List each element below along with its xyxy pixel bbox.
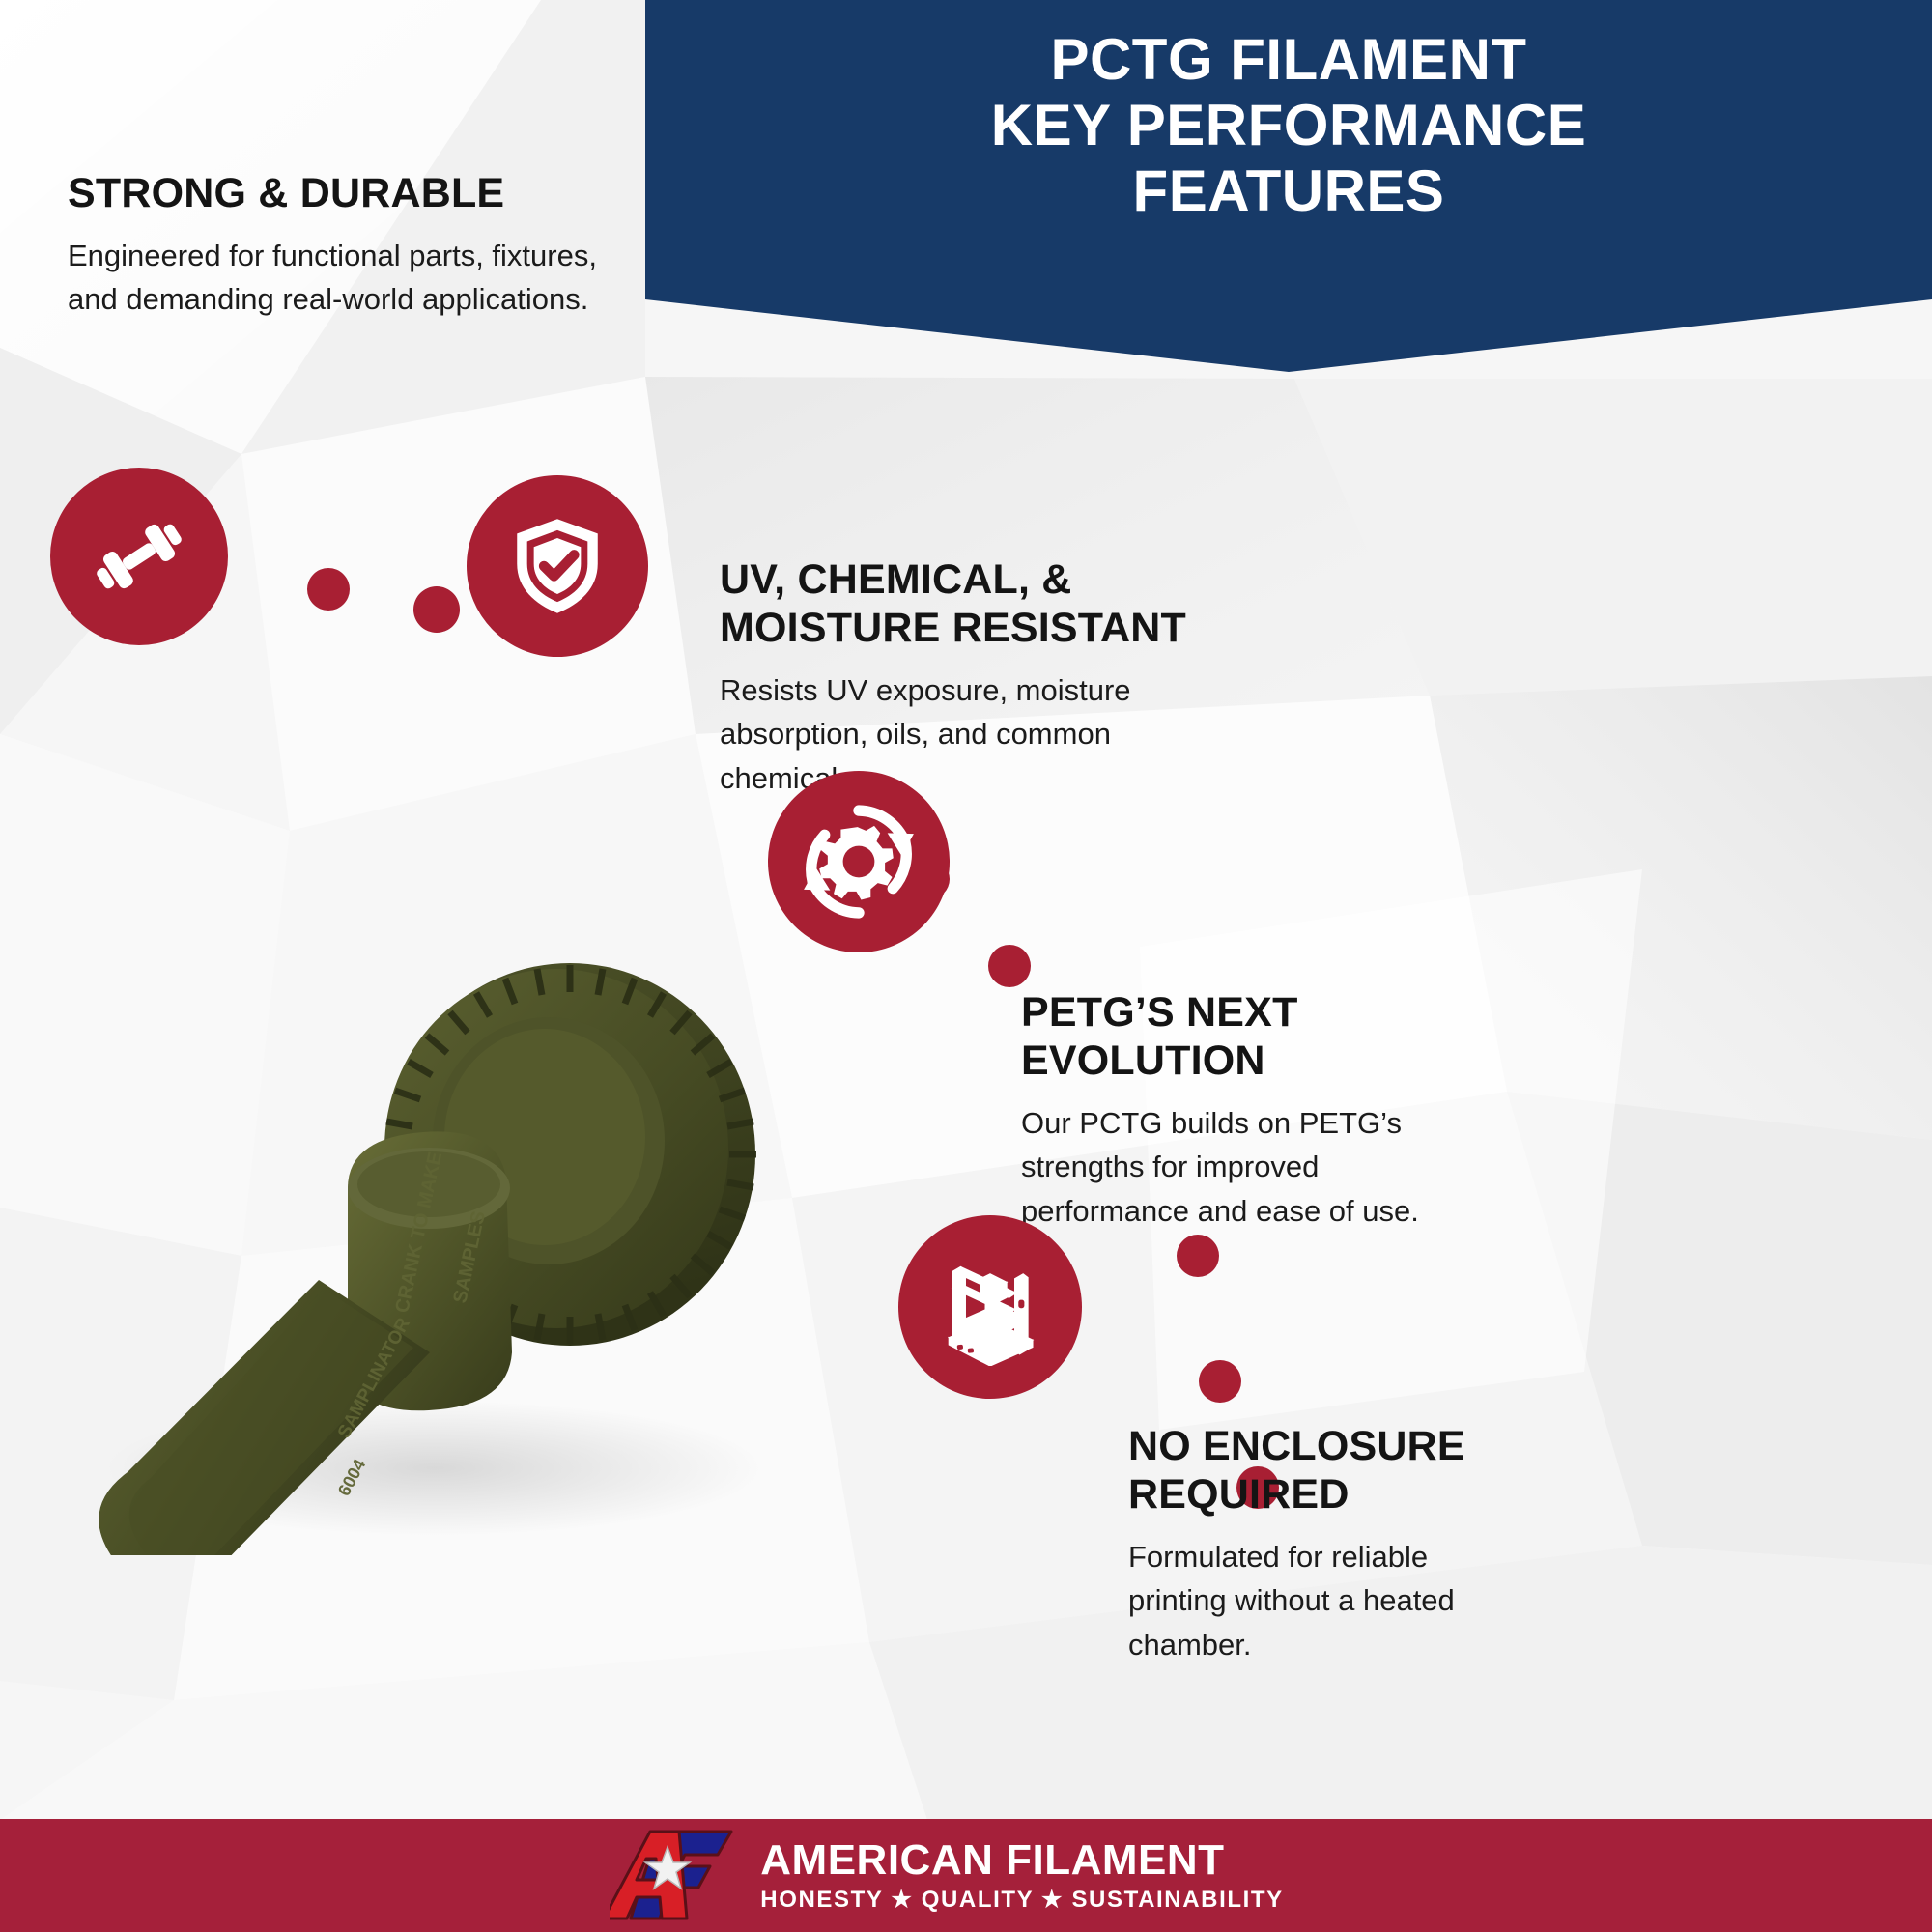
infographic-canvas: PCTG FILAMENT KEY PERFORMANCE FEATURES: [0, 0, 1932, 1932]
footer-bar: AMERICAN FILAMENT HONESTY ★ QUALITY ★ SU…: [0, 1819, 1932, 1932]
brand-name: AMERICAN FILAMENT: [760, 1839, 1283, 1882]
3d-printer-icon: [931, 1248, 1049, 1366]
feature-no-enclosure-required: NO ENCLOSURE REQUIRED Formulated for rel…: [0, 0, 1739, 1739]
american-filament-logo: [610, 1830, 737, 1922]
3d-printer-badge[interactable]: [898, 1215, 1082, 1399]
feature-body: Formulated for reliable printing without…: [1128, 1535, 1534, 1667]
af-logo-icon: [610, 1830, 737, 1922]
brand-tagline: HONESTY ★ QUALITY ★ SUSTAINABILITY: [760, 1889, 1283, 1912]
feature-title: NO ENCLOSURE REQUIRED: [1128, 1423, 1534, 1520]
feature-enclosure-text: NO ENCLOSURE REQUIRED Formulated for rel…: [1128, 1423, 1534, 1666]
